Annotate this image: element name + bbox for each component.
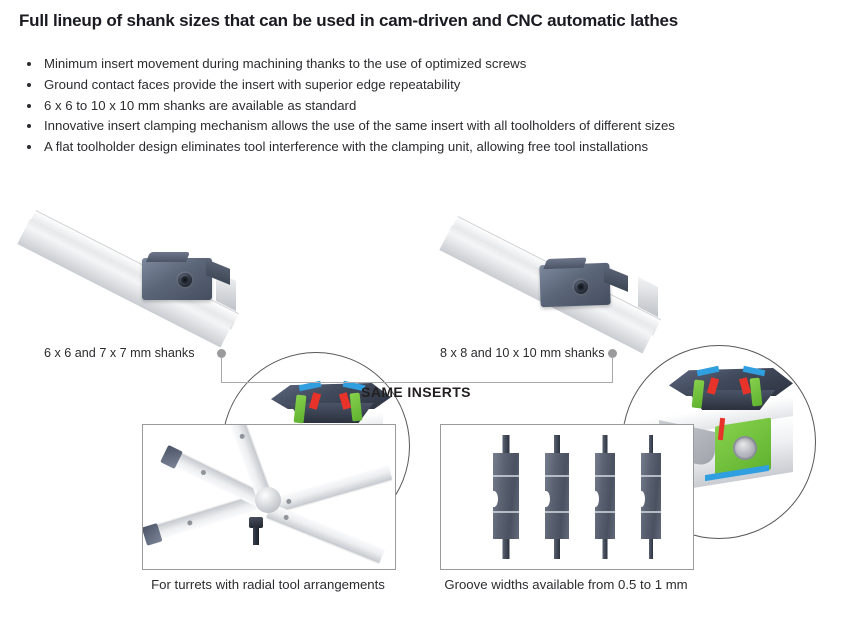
groove-notch [542,491,550,507]
clamp-screw-icon [572,278,590,296]
turret-screw-icon [249,517,263,545]
same-inserts-label: SAME INSERTS [0,384,832,400]
clamp-screw-icon [176,271,194,289]
feature-list: Minimum insert movement during machining… [22,54,822,158]
connector-line-left [221,356,222,383]
turret-arm [269,465,392,514]
bullet-icon [27,83,31,87]
panel-groove-widths [440,424,694,570]
page-title: Full lineup of shank sizes that can be u… [19,10,829,32]
groove-notch [592,491,599,507]
feature-text: A flat toolholder design eliminates tool… [44,139,648,154]
feature-list-item: Ground contact faces provide the insert … [22,75,822,96]
bullet-icon [27,62,31,66]
screw-shaft [253,527,259,545]
turret-arm-screw-icon [286,498,292,504]
feature-list-item: A flat toolholder design eliminates tool… [22,137,822,158]
feature-list-item: Minimum insert movement during machining… [22,54,822,75]
same-inserts-connector [0,340,858,390]
turret-arm-insert [142,523,162,546]
bullet-icon [27,145,31,149]
feature-text: 6 x 6 to 10 x 10 mm shanks are available… [44,98,356,113]
feature-list-item: 6 x 6 to 10 x 10 mm shanks are available… [22,96,822,117]
turret-arm [266,504,385,564]
bullet-icon [27,124,31,128]
turret-arm-screw-icon [187,520,193,526]
bottom-panel-row: For turrets with radial tool arrangement… [0,420,858,610]
panel-turret-arrangement [142,424,396,570]
feature-list-item: Innovative insert clamping mechanism all… [22,116,822,137]
turret-arm-insert [160,445,183,469]
turret-arm-screw-icon [283,514,290,521]
groove-insert [593,435,617,559]
feature-text: Ground contact faces provide the insert … [44,77,460,92]
caption-turret-arrangement: For turrets with radial tool arrangement… [139,577,397,592]
connector-line-right [612,356,613,383]
bullet-icon [27,104,31,108]
feature-text: Minimum insert movement during machining… [44,56,526,71]
groove-notch [638,491,645,507]
turret-arm-screw-icon [200,469,207,476]
groove-insert [543,435,571,559]
turret-hub [255,487,281,513]
groove-insert [491,435,521,559]
turret-arm-screw-icon [239,433,245,439]
caption-groove-widths: Groove widths available from 0.5 to 1 mm [437,577,695,592]
groove-notch [490,491,498,507]
feature-text: Innovative insert clamping mechanism all… [44,118,675,133]
groove-insert [639,435,663,559]
